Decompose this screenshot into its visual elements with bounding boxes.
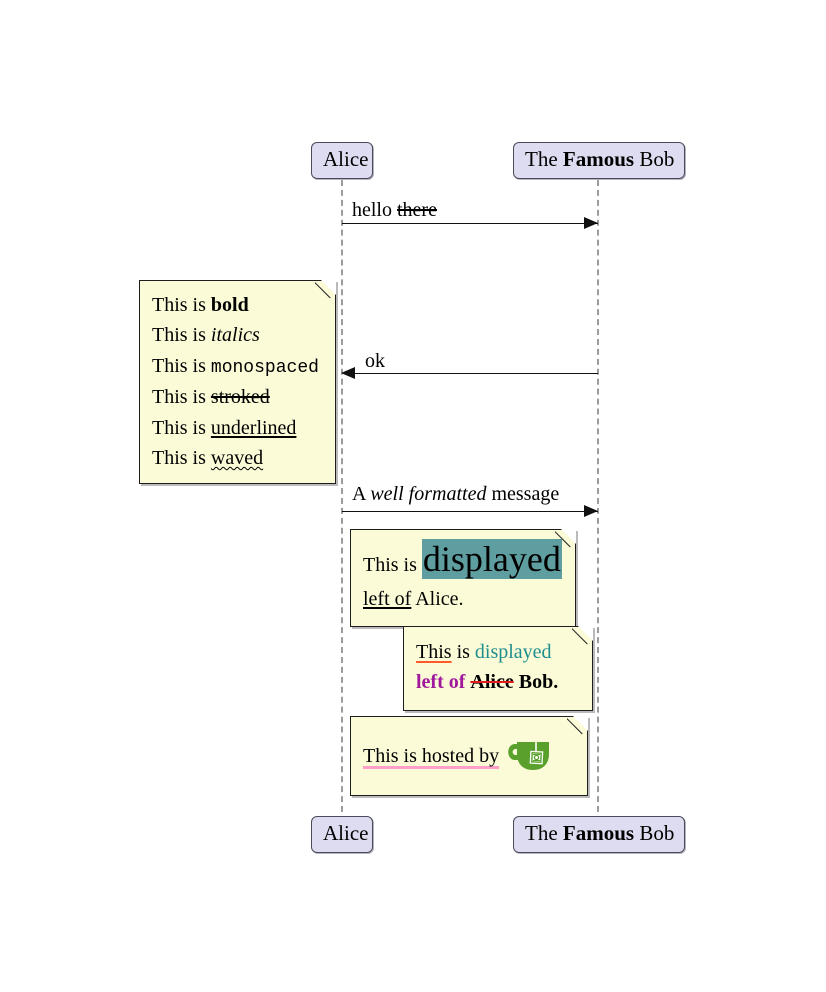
participant-alice-top-label: Alice <box>323 147 368 171</box>
note-bob-line2-magenta: left of <box>416 671 465 693</box>
note-line-strike-value: stroked <box>211 386 270 408</box>
message-line-hello <box>342 223 598 224</box>
message-formatted-suffix: message <box>486 483 559 505</box>
arrow-head-formatted <box>584 505 598 517</box>
note-line-wave-prefix: This is <box>152 447 211 469</box>
participant-bob-bottom-prefix: The <box>525 821 563 845</box>
note-bob-line1: This is displayed <box>416 637 579 667</box>
note-fold-line-icon <box>315 280 336 301</box>
message-line-formatted <box>342 511 598 512</box>
note-bob-line2-struck: Alice <box>470 671 513 693</box>
note-alice-line2-underlined: left of <box>363 588 411 610</box>
note-bob-line1-underlined: This <box>416 641 452 663</box>
message-label-ok: ok <box>365 350 385 372</box>
note-line-strike: This is stroked <box>152 382 322 412</box>
message-label-hello: hello there <box>352 199 437 221</box>
note-bob-line2-bold: Bob. <box>519 671 558 693</box>
note-fold-line-icon <box>555 529 576 550</box>
note-line-monospace: This is monospaced <box>152 351 322 382</box>
note-line-italic-prefix: This is <box>152 324 211 346</box>
note-line-monospace-prefix: This is <box>152 355 211 377</box>
message-hello-struck: there <box>397 199 437 221</box>
note-bob-line2: left of Alice Bob. <box>416 667 579 697</box>
teacup-icon <box>505 736 551 781</box>
note-alice-line2: left of Alice. <box>363 584 562 614</box>
participant-bob-top[interactable]: The Famous Bob <box>513 142 685 179</box>
participant-alice-bottom[interactable]: Alice <box>311 816 373 853</box>
message-hello-plain: hello <box>352 199 397 221</box>
note-line-underline-prefix: This is <box>152 417 211 439</box>
note-displayed-left-of-bob: This is displayed left of Alice Bob. <box>403 626 593 711</box>
message-formatted-italic: well formatted <box>370 483 486 505</box>
note-hosted-by: This is hosted by <box>350 716 588 796</box>
note-bob-line1-mid: is <box>452 641 475 663</box>
note-line-wave: This is waved <box>152 443 322 473</box>
participant-alice-top[interactable]: Alice <box>311 142 373 179</box>
participant-bob-top-suffix: Bob <box>634 147 674 171</box>
participant-bob-bottom-suffix: Bob <box>634 821 674 845</box>
note-hosted-text: This is hosted by <box>363 745 499 767</box>
participant-bob-top-prefix: The <box>525 147 563 171</box>
note-line-bold: This is bold <box>152 290 322 320</box>
arrow-head-ok <box>341 367 355 379</box>
arrow-head-hello <box>584 217 598 229</box>
participant-bob-top-bold: Famous <box>563 147 634 171</box>
note-hosted-row: This is hosted by <box>363 736 574 781</box>
note-alice-line1: This is displayed <box>363 542 562 578</box>
participant-alice-bottom-label: Alice <box>323 821 368 845</box>
note-alice-line1-prefix: This is <box>363 554 422 576</box>
lifeline-bob <box>597 180 599 812</box>
note-line-monospace-value: monospaced <box>211 358 319 378</box>
message-formatted-prefix: A <box>352 483 370 505</box>
message-label-formatted: A well formatted message <box>352 483 559 505</box>
note-line-italic-value: italics <box>211 324 260 346</box>
message-ok-plain: ok <box>365 350 385 372</box>
note-fold-line-icon <box>567 716 588 737</box>
message-line-ok <box>355 373 598 374</box>
note-line-bold-value: bold <box>211 294 249 316</box>
note-alice-line2-suffix: Alice. <box>411 588 463 610</box>
note-bob-line1-teal: displayed <box>475 641 552 663</box>
note-alice-line1-highlight: displayed <box>422 539 562 579</box>
note-fold-line-icon <box>572 626 593 647</box>
lifeline-alice <box>341 180 343 812</box>
note-formatting-styles: This is bold This is italics This is mon… <box>139 280 336 484</box>
note-line-underline: This is underlined <box>152 413 322 443</box>
note-line-bold-prefix: This is <box>152 294 211 316</box>
participant-bob-bottom[interactable]: The Famous Bob <box>513 816 685 853</box>
note-line-wave-value: waved <box>211 447 263 469</box>
note-displayed-left-of-alice: This is displayed left of Alice. <box>350 529 576 627</box>
sequence-diagram-canvas: Alice The Famous Bob Alice The Famous Bo… <box>0 0 826 992</box>
participant-bob-bottom-bold: Famous <box>563 821 634 845</box>
note-line-italic: This is italics <box>152 320 322 350</box>
note-line-strike-prefix: This is <box>152 386 211 408</box>
note-line-underline-value: underlined <box>211 417 297 439</box>
